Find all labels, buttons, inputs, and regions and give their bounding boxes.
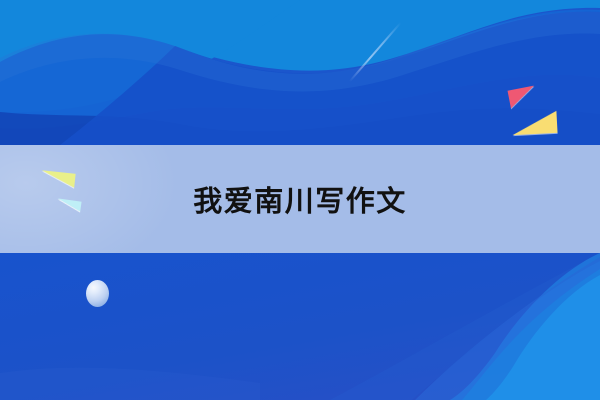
bottom-section xyxy=(0,253,600,400)
yellow-paper-plane-icon xyxy=(511,111,557,135)
glowing-sphere-icon xyxy=(86,280,109,307)
bottom-curves-graphic xyxy=(0,253,600,400)
banner-image: 我爱南川写作文 xyxy=(0,0,600,400)
banner-title: 我爱南川写作文 xyxy=(0,145,600,253)
curve-low-left xyxy=(0,368,260,400)
top-waves-graphic xyxy=(0,0,600,145)
title-band: 我爱南川写作文 xyxy=(0,145,600,253)
top-wave-section xyxy=(0,0,600,145)
